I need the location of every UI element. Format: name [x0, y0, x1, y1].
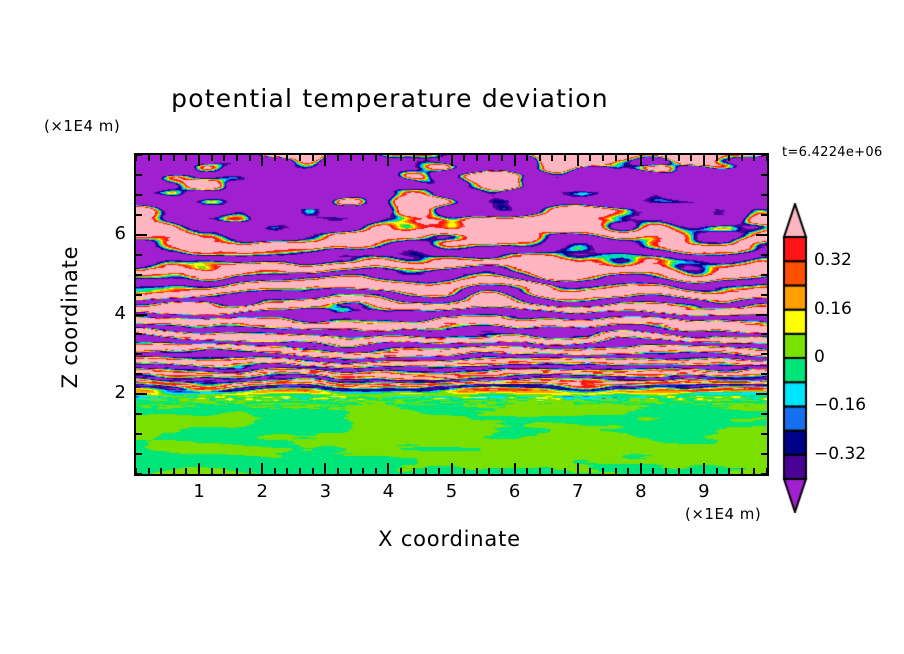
- contour-plot-frame: [134, 153, 769, 476]
- x-tick-label: 6: [495, 481, 535, 502]
- x-tick-label: 8: [621, 481, 661, 502]
- page-title: potential temperature deviation: [0, 84, 780, 113]
- colorbar-tick-label: 0.16: [814, 299, 852, 319]
- colorbar-canvas: [782, 203, 808, 513]
- colorbar: [782, 203, 808, 513]
- time-annotation: t=6.4224e+06: [782, 145, 883, 160]
- x-tick-label: 2: [242, 481, 282, 502]
- x-tick-label: 3: [305, 481, 345, 502]
- colorbar-tick-label: 0: [814, 347, 825, 367]
- x-tick-label: 4: [368, 481, 408, 502]
- x-axis-title: X coordinate: [134, 527, 765, 551]
- x-tick-label: 9: [684, 481, 724, 502]
- colorbar-tick-label: 0.32: [814, 250, 852, 270]
- contour-field-canvas: [136, 155, 767, 474]
- x-tick-label: 1: [179, 481, 219, 502]
- z-axis-title: Z coordinate: [58, 217, 82, 417]
- z-tick-label: 2: [92, 382, 126, 403]
- z-axis-unit-label: (×1E4 m): [44, 117, 120, 135]
- z-tick-label: 4: [92, 303, 126, 324]
- colorbar-tick-label: −0.32: [814, 444, 866, 464]
- colorbar-tick-label: −0.16: [814, 395, 866, 415]
- x-axis-unit-label: (×1E4 m): [685, 505, 761, 523]
- z-tick-label: 6: [92, 223, 126, 244]
- x-tick-label: 7: [558, 481, 598, 502]
- x-tick-label: 5: [432, 481, 472, 502]
